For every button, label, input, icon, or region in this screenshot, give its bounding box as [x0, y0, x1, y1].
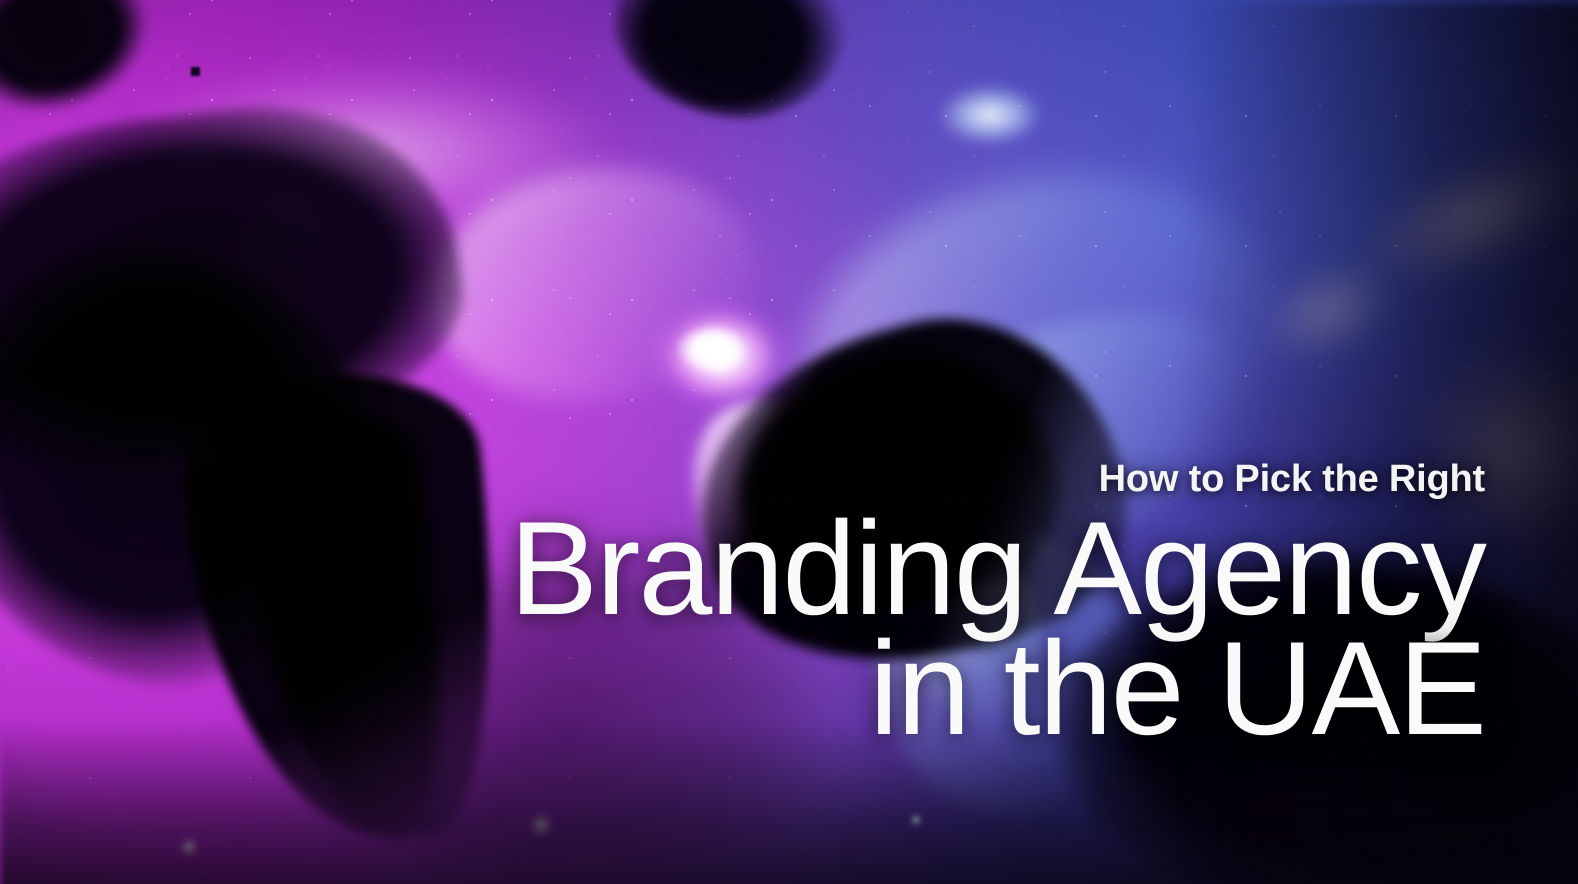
- hero-headline-line-2: in the UAE: [385, 628, 1485, 752]
- hero-text-block: How to Pick the Right Branding Agency in…: [385, 460, 1485, 751]
- hero-banner: How to Pick the Right Branding Agency in…: [0, 0, 1578, 884]
- hero-kicker: How to Pick the Right: [385, 460, 1485, 498]
- hero-headline-line-1: Branding Agency: [385, 508, 1485, 632]
